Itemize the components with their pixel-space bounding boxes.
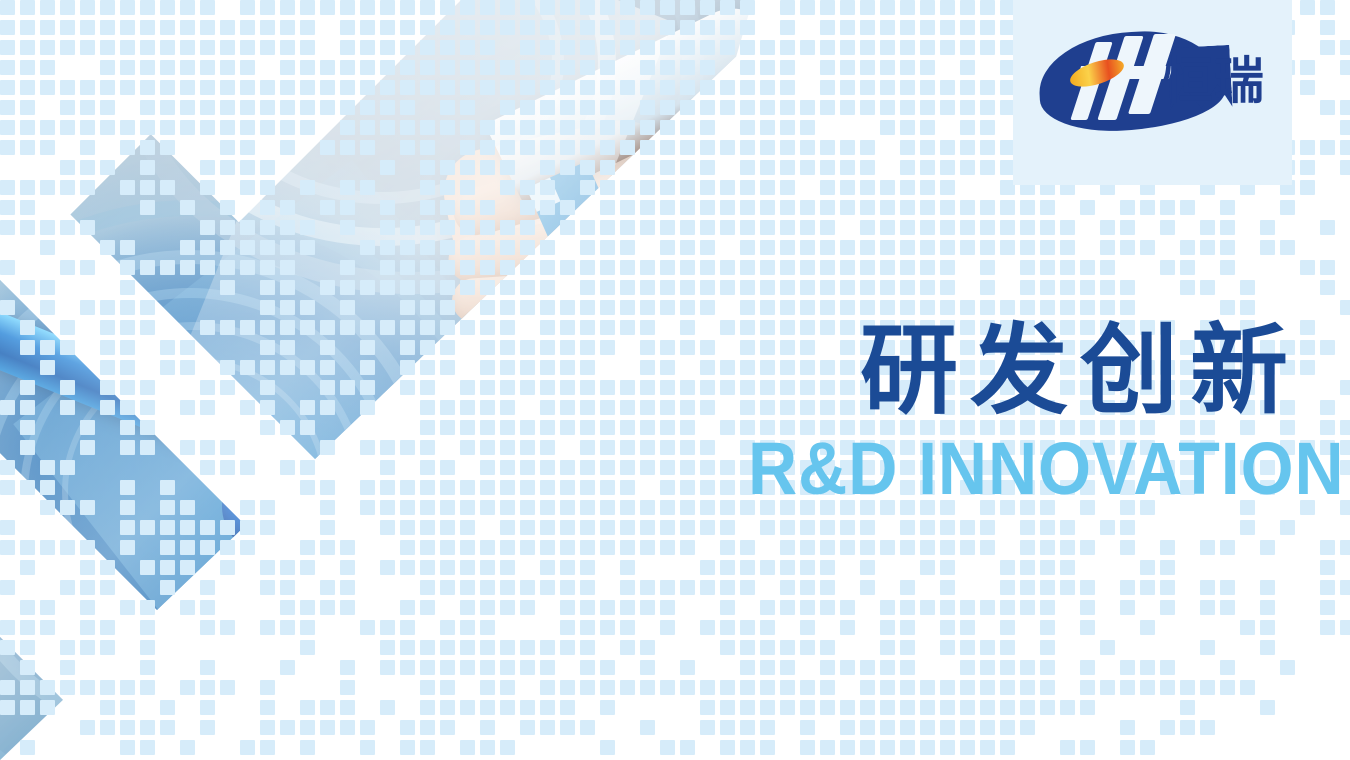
grid-square [380,460,395,475]
grid-square [400,480,415,495]
grid-square [480,600,495,615]
grid-square [320,600,335,615]
grid-square [640,160,655,175]
grid-square [380,560,395,575]
grid-square [500,300,515,315]
grid-square [260,700,275,715]
grid-square [420,600,435,615]
grid-square [560,520,575,535]
grid-square [600,400,615,415]
grid-square [420,360,435,375]
grid-square [520,580,535,595]
grid-square [500,380,515,395]
grid-square [600,220,615,235]
grid-square [500,560,515,575]
grid-square [420,740,435,755]
grid-square [540,460,555,475]
grid-square [540,440,555,455]
grid-square [660,140,675,155]
grid-square [620,180,635,195]
grid-square [620,300,635,315]
grid-square [140,740,155,755]
grid-square [500,340,515,355]
grid-square [540,640,555,655]
grid-square [540,560,555,575]
grid-square [280,580,295,595]
grid-square [480,380,495,395]
grid-square [180,600,195,615]
grid-square [600,420,615,435]
grid-square [360,500,375,515]
grid-square [160,720,175,735]
grid-square [220,620,235,635]
grid-square [540,500,555,515]
grid-square [240,740,255,755]
grid-square [500,360,515,375]
grid-square [480,620,495,635]
grid-square [560,260,575,275]
grid-square [280,600,295,615]
grid-square [400,520,415,535]
grid-square [320,480,335,495]
grid-square [420,700,435,715]
grid-square [340,580,355,595]
grid-square [440,560,455,575]
grid-square [400,540,415,555]
grid-square [480,500,495,515]
grid-square [600,440,615,455]
grid-square [540,520,555,535]
grid-square [480,580,495,595]
capsule [433,637,490,670]
grid-square [440,400,455,415]
grid-square [580,360,595,375]
grid-square [460,540,475,555]
grid-square [500,400,515,415]
grid-square [200,620,215,635]
grid-square [140,640,155,655]
grid-square [480,540,495,555]
grid-square [540,340,555,355]
grid-square [640,280,655,295]
grid-square [380,620,395,635]
grid-square [360,620,375,635]
grid-square [520,420,535,435]
grid-square [620,220,635,235]
grid-square [200,660,215,675]
grid-square [580,340,595,355]
grid-square [480,560,495,575]
capsule [360,621,417,654]
grid-square [500,640,515,655]
capsule [399,696,456,729]
grid-square [300,720,315,735]
finger [451,272,566,324]
grid-square [420,500,435,515]
grid-square [440,720,455,735]
grid-square [460,380,475,395]
grid-square [580,460,595,475]
grid-square [680,120,695,135]
grid-square [560,380,575,395]
capsule [472,712,529,745]
grid-square [640,320,655,335]
grid-square [320,540,335,555]
grid-square [500,320,515,335]
grid-square [380,500,395,515]
grid-square [400,500,415,515]
grid-square [460,520,475,535]
grid-square [520,260,535,275]
grid-square [420,380,435,395]
logo-plate: 恒瑞 [1013,0,1292,185]
grid-square [620,200,635,215]
grid-square [440,700,455,715]
grid-square [300,620,315,635]
grid-square [400,720,415,735]
grid-square [500,680,515,695]
grid-square [280,560,295,575]
grid-square [200,720,215,735]
grid-square [600,200,615,215]
grid-square [540,380,555,395]
grid-square [540,360,555,375]
headline-block: 研发创新 R&D INNOVATION [700,322,1300,506]
grid-square [580,480,595,495]
grid-square [460,580,475,595]
grid-square [500,500,515,515]
grid-square [180,740,195,755]
grid-square [440,480,455,495]
grid-square [260,720,275,735]
grid-square [500,480,515,495]
grid-square [440,340,455,355]
grid-square [680,180,695,195]
grid-square [300,540,315,555]
grid-square [560,540,575,555]
grid-square [540,400,555,415]
grid-square [320,580,335,595]
grid-square [460,420,475,435]
grid-square [200,680,215,695]
grid-square [380,660,395,675]
grid-square [600,320,615,335]
grid-square [200,600,215,615]
grid-square [420,520,435,535]
grid-square [360,720,375,735]
grid-square [100,720,115,735]
grid-square [420,660,435,675]
grid-square [520,520,535,535]
grid-square [600,300,615,315]
grid-square [440,680,455,695]
grid-square [440,620,455,635]
grid-square [260,740,275,755]
grid-square [580,400,595,415]
grid-square [400,600,415,615]
grid-square [340,600,355,615]
grid-square [420,580,435,595]
rnd-innovation-banner: 恒瑞 研发创新 R&D INNOVATION [0,0,1350,760]
grid-square [480,400,495,415]
grid-square [260,620,275,635]
grid-square [540,300,555,315]
grid-square [480,640,495,655]
grid-square [500,440,515,455]
grid-square [460,480,475,495]
grid-square [400,640,415,655]
grid-square [460,660,475,675]
grid-square [580,420,595,435]
grid-square [620,320,635,335]
grid-square [560,560,575,575]
grid-square [700,100,715,115]
grid-square [320,700,335,715]
grid-square [420,540,435,555]
grid-square [480,420,495,435]
grid-square [500,520,515,535]
grid-square [520,600,535,615]
grid-square [340,560,355,575]
grid-square [540,320,555,335]
grid-square [440,520,455,535]
grid-square [560,320,575,335]
grid-square [120,740,135,755]
grid-square [340,700,355,715]
capsule [487,615,544,648]
grid-square [660,160,675,175]
grid-square [620,240,635,255]
grid-square [420,680,435,695]
grid-square [600,340,615,355]
grid-square [520,380,535,395]
grid-square [380,700,395,715]
grid-square [640,200,655,215]
grid-square [360,440,375,455]
grid-square [300,700,315,715]
grid-square [340,540,355,555]
grid-square [100,700,115,715]
grid-square [560,480,575,495]
grid-square [480,460,495,475]
grid-square [640,180,655,195]
grid-square [460,700,475,715]
grid-square [520,500,535,515]
grid-square [280,660,295,675]
grid-square [440,660,455,675]
grid-square [80,680,95,695]
grid-square [400,380,415,395]
grid-square [260,520,275,535]
capsule [521,556,578,589]
grid-square [500,280,515,295]
grid-square [420,400,435,415]
grid-square [420,460,435,475]
page-title-chinese: 研发创新 [700,322,1300,422]
grid-square [540,480,555,495]
grid-square [480,340,495,355]
grid-square [480,300,495,315]
grid-square [600,460,615,475]
grid-square [400,660,415,675]
grid-square [440,640,455,655]
grid-square [480,660,495,675]
grid-square [500,700,515,715]
grid-square [480,320,495,335]
grid-square [520,720,535,735]
grid-square [480,720,495,735]
grid-square [480,480,495,495]
grid-square [140,720,155,735]
grid-square [520,480,535,495]
capsule [453,674,510,707]
grid-square [540,280,555,295]
logo-company-name: 恒瑞 [1163,56,1265,106]
grid-square [540,260,555,275]
capsule [467,578,524,611]
grid-square [500,660,515,675]
grid-square [320,720,335,735]
grid-square [540,660,555,675]
grid-square [500,540,515,555]
grid-square [220,560,235,575]
grid-square [580,240,595,255]
grid-square [400,560,415,575]
grid-square [580,220,595,235]
grid-square [580,320,595,335]
grid-square [520,360,535,375]
grid-square [300,560,315,575]
grid-square [520,540,535,555]
grid-square [560,460,575,475]
grid-square [100,680,115,695]
grid-square [600,260,615,275]
grid-square [280,720,295,735]
grid-square [380,480,395,495]
grid-square [660,180,675,195]
grid-square [580,260,595,275]
grid-square [120,680,135,695]
grid-square [440,500,455,515]
grid-square [520,280,535,295]
grid-square [300,740,315,755]
capsule [414,599,471,632]
grid-square [660,200,675,215]
grid-square [420,420,435,435]
grid-square [460,600,475,615]
grid-square [460,620,475,635]
grid-square [300,640,315,655]
grid-square [560,500,575,515]
grid-square [600,280,615,295]
capsule [418,734,475,760]
grid-square [440,360,455,375]
grid-square [560,360,575,375]
grid-square [160,700,175,715]
grid-square [320,500,335,515]
grid-square [120,720,135,735]
grid-square [300,480,315,495]
grid-square [460,740,475,755]
grid-square [660,220,675,235]
grid-square [560,420,575,435]
grid-square [620,260,635,275]
grid-square [580,440,595,455]
grid-square [520,460,535,475]
grid-square [480,360,495,375]
grid-square [640,300,655,315]
grid-square [340,680,355,695]
grid-square [400,440,415,455]
grid-square [680,160,695,175]
grid-square [640,260,655,275]
grid-square [560,300,575,315]
grid-square [540,580,555,595]
grid-square [480,700,495,715]
grid-square [420,560,435,575]
grid-square [520,640,535,655]
grid-square [440,580,455,595]
grid-square [680,140,695,155]
grid-square [580,500,595,515]
grid-square [260,580,275,595]
grid-square [380,640,395,655]
grid-square [500,460,515,475]
grid-square [520,300,535,315]
grid-square [520,440,535,455]
grid-square [480,680,495,695]
grid-square [20,740,35,755]
grid-square [420,720,435,735]
grid-square [400,620,415,635]
grid-square [440,460,455,475]
capsule [380,658,437,691]
grid-square [540,420,555,435]
grid-square [300,600,315,615]
grid-square [460,640,475,655]
grid-square [620,280,635,295]
grid-square [200,700,215,715]
grid-square [380,440,395,455]
grid-square [260,560,275,575]
grid-square [140,660,155,675]
grid-square [500,740,515,755]
grid-square [420,640,435,655]
grid-square [340,660,355,675]
grid-square [460,560,475,575]
grid-square [260,680,275,695]
grid-square [360,740,375,755]
grid-square [120,700,135,715]
grid-square [580,380,595,395]
grid-square [560,340,575,355]
grid-square [660,240,675,255]
grid-square [540,240,555,255]
grid-square [460,500,475,515]
grid-square [460,320,475,335]
grid-square [180,680,195,695]
grid-square [580,280,595,295]
grid-square [360,480,375,495]
grid-square [340,720,355,735]
grid-square [200,580,215,595]
grid-square [240,540,255,555]
grid-square [520,660,535,675]
grid-square [600,240,615,255]
page-subtitle-english: R&D INNOVATION [748,432,1300,506]
grid-square [500,600,515,615]
grid-square [700,120,715,135]
